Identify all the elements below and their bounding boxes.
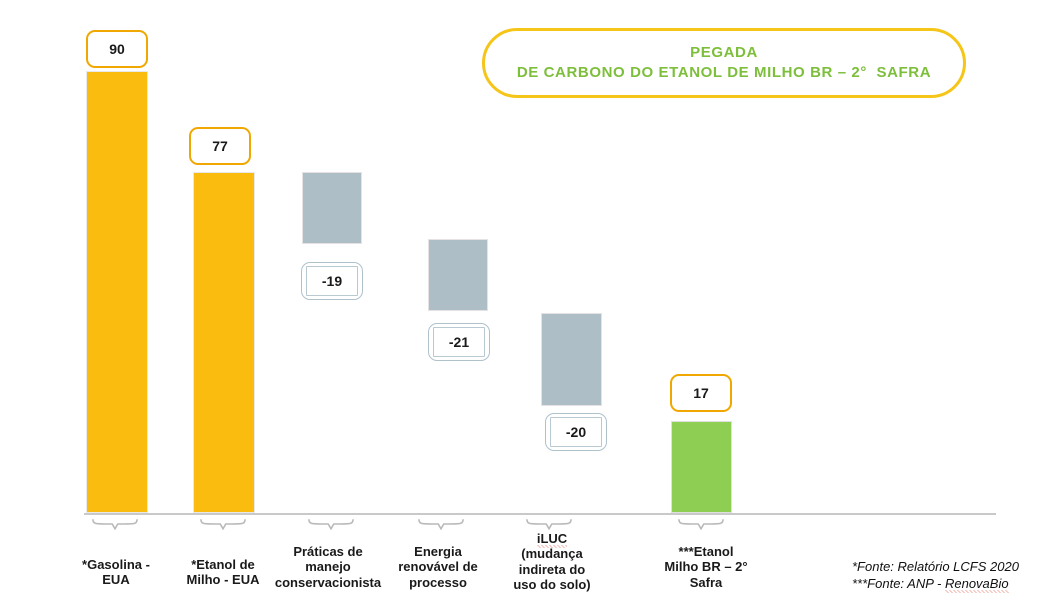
category-brace-3 <box>418 518 464 530</box>
footnote-renovabio-term: RenovaBio <box>945 576 1009 593</box>
chart-canvas: PEGADA DE CARBONO DO ETANOL DE MILHO BR … <box>0 0 1052 608</box>
category-brace-4 <box>526 518 572 530</box>
category-label-5: ***Etanol Milho BR – 2° Safra <box>644 544 768 590</box>
footnotes: *Fonte: Relatório LCFS 2020 ***Fonte: AN… <box>852 558 1048 592</box>
value-label-4: -20 <box>566 425 586 439</box>
value-callout-1: 77 <box>189 127 251 165</box>
bar-5 <box>671 421 732 513</box>
category-brace-0 <box>92 518 138 530</box>
category-label-2: Práticas de manejo conservacionista <box>258 544 398 590</box>
bar-3 <box>428 239 488 311</box>
value-label-5: 17 <box>693 386 709 400</box>
value-callout-3: -21 <box>428 323 490 361</box>
bar-1 <box>193 172 255 513</box>
bar-4 <box>541 313 602 406</box>
value-label-3: -21 <box>449 335 469 349</box>
category-brace-5 <box>678 518 724 530</box>
category-label-0: *Gasolina - EUA <box>56 557 176 588</box>
axis-baseline <box>84 513 996 515</box>
footnote-line-2: ***Fonte: ANP - RenovaBio <box>852 575 1048 592</box>
chart-title-line-1: PEGADA <box>690 43 758 63</box>
value-label-0: 90 <box>109 42 125 56</box>
footnote-line-2-prefix: ***Fonte: ANP - <box>852 576 945 591</box>
category-label-4: iLUC (mudança indireta do uso do solo) <box>492 531 612 592</box>
value-label-1: 77 <box>212 139 228 153</box>
category-brace-2 <box>308 518 354 530</box>
value-callout-0: 90 <box>86 30 148 68</box>
value-callout-4: -20 <box>545 413 607 451</box>
value-callout-2: -19 <box>301 262 363 300</box>
bar-0 <box>86 71 148 513</box>
value-callout-5: 17 <box>670 374 732 412</box>
bar-2 <box>302 172 362 244</box>
category-label-3: Energia renovável de processo <box>378 544 498 590</box>
footnote-line-1: *Fonte: Relatório LCFS 2020 <box>852 558 1048 575</box>
value-label-2: -19 <box>322 274 342 288</box>
chart-title-badge: PEGADA DE CARBONO DO ETANOL DE MILHO BR … <box>482 28 966 98</box>
chart-title-line-2: DE CARBONO DO ETANOL DE MILHO BR – 2° SA… <box>517 63 931 83</box>
category-brace-1 <box>200 518 246 530</box>
